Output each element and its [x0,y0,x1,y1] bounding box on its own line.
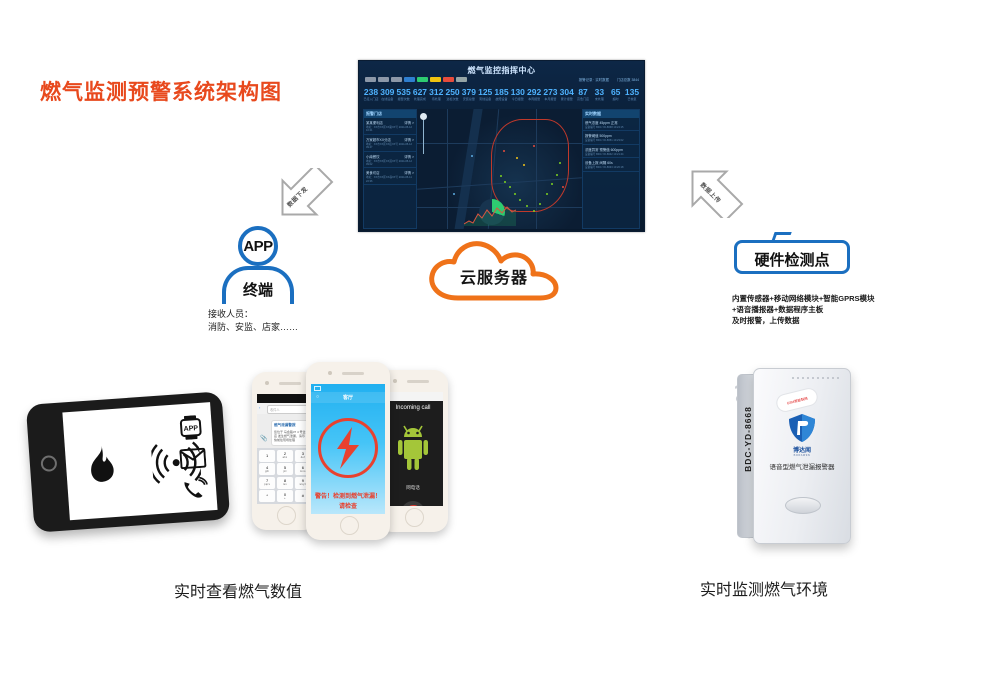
dashboard-meta-2: 门店总数 3844 [617,77,639,82]
monitoring-dashboard: 燃气监控指挥中心 报警记录 · 实时数据 门店总数 3844 238已接入门店 … [358,60,645,232]
key-number: 1 [266,454,268,458]
panel-title: 实时数据 [583,110,639,118]
row-name: 美食坊店 [366,170,380,175]
kpi-item: 292本周报警 [526,87,542,101]
kpi-value: 379 [462,87,476,97]
table-row[interactable]: 小南餐饮详情 > 地址：XX市XX区XX道XX号 2024-05-12 09:0… [364,152,416,169]
kpi-item: 238已接入门店 [363,87,379,101]
kpi-label: 处理完成 [414,97,426,101]
kpi-item: 627处理完成 [412,87,428,101]
key-letters: def [301,456,305,459]
back-icon[interactable]: ‹ [259,405,260,410]
svg-text:APP: APP [183,425,198,433]
kpi-label: 报警次数 [398,97,410,101]
kpi-item: 379安装总量 [461,87,477,101]
sms-recipient-placeholder: 收件人 [270,407,280,412]
keypad-key[interactable]: 7pqrs [259,477,275,489]
row-action[interactable]: 详情 > [404,170,414,175]
kpi-item: 535报警次数 [396,87,412,101]
table-row[interactable]: 设备上报 间隔 60s 设备编号 BDC-YD-8633 10:20:18 [583,158,639,171]
kpi-value: 238 [364,87,378,97]
phone-app-icon-list: APP [177,415,209,501]
home-button-icon[interactable] [405,508,424,527]
detector-brand-pinyin: BODAWEN [754,454,850,457]
realtime-data-panel: 实时数据 燃气浓度 45ppm 正常 设备编号 BDC-YD-8668 10:2… [582,109,640,229]
front-camera-icon [328,371,332,375]
kpi-label: 未处理 [595,97,604,101]
row-sub: 设备编号 BDC-YD-8642 10:21:44 [585,153,637,156]
sms-message-title: 燃气泄漏警报 [274,423,306,428]
map-canvas[interactable] [417,109,582,229]
kpi-label: 本周报警 [528,97,540,101]
kpi-value: 130 [511,87,525,97]
sms-message-bubble: 燃气泄漏警报 您位于 马会路37 4 号监店 发生燃气泄漏，请尽快前往现场处理 [271,420,309,446]
detector-brand: 博达闻 BODAWEN [754,445,850,457]
caption-right: 实时监测燃气环境 [700,576,828,600]
gas-detector-device: GSM智能联网 博达闻 BODAWEN 语音型燃气泄漏报警器 BDC-YD-86… [735,368,867,548]
keypad-key[interactable]: 8tuv [277,477,293,489]
kpi-value: 309 [380,87,394,97]
android-robot-icon [396,423,430,471]
keypad-key[interactable]: 1 [259,450,275,462]
data-push-arrow: 数据下发 [272,168,334,220]
map-zoom-knob[interactable] [420,113,427,120]
sms-thread: 燃气泄漏警报 您位于 马会路37 4 号监店 发生燃气泄漏，请尽快前往现场处理 … [257,414,313,448]
kpi-item: 130今日报警 [510,87,526,101]
smartwatch-app-icon[interactable]: APP [179,415,203,440]
table-row[interactable]: 燃气浓度 45ppm 正常 设备编号 BDC-YD-8668 10:24:15 [583,118,639,131]
home-button-icon[interactable] [277,506,296,525]
cloud-server-label: 云服务器 [424,264,564,288]
kpi-value: 273 [543,87,557,97]
key-letters: mno [300,470,306,473]
page-title: 燃气监测预警系统架构图 [40,76,282,106]
row-name: 小南餐饮 [366,154,380,159]
map-zoom-track[interactable] [423,120,424,154]
kpi-item: 33未处理 [591,87,607,101]
kpi-value: 292 [527,87,541,97]
keypad-key[interactable]: 2abc [277,450,293,462]
table-row[interactable]: 报警阈值 500ppm 设备编号 BDC-YD-8651 10:23:02 [583,131,639,144]
kpi-label: 故障设备 [495,97,507,101]
home-button-icon[interactable] [40,455,57,472]
keypad-key[interactable]: 4ghi [259,463,275,475]
hardware-description: 内置传感器+移动网络模块+智能GPRS模块 +语音播报器+数据程序主板 及时报警… [732,293,922,326]
kpi-value: 312 [429,87,443,97]
caption-left: 实时查看燃气数值 [174,578,302,602]
row-action[interactable]: 详情 > [404,137,414,142]
kpi-label: 累计报警 [561,97,573,101]
kpi-item: 65超时 [608,87,624,101]
hardware-bubble-label: 硬件检测点 [737,249,847,270]
receivers-text: 接收人员： 消防、安监、店家…… [208,308,298,334]
row-action[interactable]: 详情 > [404,154,414,159]
front-camera-icon [265,381,269,385]
kpi-item: 87高危门店 [575,87,591,101]
kpi-value: 135 [625,87,639,97]
dashboard-kpi-row: 238已接入门店 309在线设备 535报警次数 627处理完成 312待处理 … [363,87,640,109]
detector-test-button[interactable] [785,497,821,514]
kpi-label: 巡检次数 [447,97,459,101]
front-camera-icon [393,379,397,383]
keypad-key[interactable]: 0+ [277,490,293,502]
kpi-value: 185 [494,87,508,97]
alert-message: 警告！检测到燃气泄漏！ 请检查 [311,492,385,512]
kpi-label: 在线设备 [381,97,393,101]
app-terminal-icon: APP 终端 [222,226,294,306]
row-name: 某某便利店 [366,120,383,125]
call-phone-screen: Incoming call 网电话 ✆ [383,392,443,506]
call-hangup-button[interactable]: ✆ [401,501,425,506]
panel-title: 报警门店 [364,110,416,118]
kpi-label: 超时 [613,97,619,101]
alert-phone[interactable]: ○ 客厅 警告！检测到燃气泄漏！ 请检查 [306,362,390,540]
lightning-bolt-icon [321,421,375,475]
kpi-value: 535 [397,87,411,97]
row-name: 报警阈值 500ppm [585,133,612,138]
alarm-store-panel: 报警门店 某某便利店详情 > 地址：XX市XX区XX路XX号 2024-05-1… [363,109,417,229]
row-sub: 地址：XX市XX区XX道XX号 2024-05-12 09:02 [366,160,414,167]
row-sub: 地址：XX市XX区XX街XX号 2024-05-12 09:47 [366,143,414,150]
brand-logo-icon [787,413,817,443]
kpi-label: 已接入门店 [363,97,378,101]
row-name: 燃气浓度 45ppm 正常 [585,120,618,125]
home-button-icon[interactable] [340,516,359,535]
phone-hangup-icon: ✆ [401,501,425,506]
kpi-label: 今日报警 [512,97,524,101]
status-bar [383,392,443,401]
app-navbar: ○ 客厅 [311,392,385,403]
key-letters: ghi [265,470,269,473]
detector-front-panel: GSM智能联网 博达闻 BODAWEN 语音型燃气泄漏报警器 [753,368,851,544]
detector-sticker: GSM智能联网 [774,386,819,414]
table-row[interactable]: 浓度异常 预警值 600ppm 设备编号 BDC-YD-8642 10:21:4… [583,145,639,158]
table-row[interactable]: 某某便利店详情 > 地址：XX市XX区XX路XX号 2024-05-12 10:… [364,118,416,135]
dial-keypad[interactable]: 1 2abc 3def 4ghi 5jkl 6mno 7pqrs 8tuv 9w… [257,448,313,504]
call-subtitle: 网电话 [383,485,443,491]
kpi-value: 33 [595,87,604,97]
kpi-item: 273本月报警 [542,87,558,101]
dashboard-meta-1: 报警记录 · 实时数据 [579,77,609,82]
kpi-item: 125离线设备 [477,87,493,101]
table-row[interactable]: 美食坊店详情 > 地址：XX市XX区XX巷XX号 2024-05-11 22:3… [364,168,416,185]
kpi-value: 125 [478,87,492,97]
ringing-phone-icon[interactable] [181,477,208,501]
kpi-value: 304 [560,87,574,97]
key-letters: pqrs [264,483,270,486]
key-letters: jkl [283,470,286,473]
kpi-item: 250巡检次数 [445,87,461,101]
alert-phone-screen: ○ 客厅 警告！检测到燃气泄漏！ 请检查 [311,384,385,514]
kpi-value: 250 [445,87,459,97]
sms-phone-screen: ‹ 收件人 燃气泄漏警报 您位于 马会路37 4 号监店 发生燃气泄漏，请尽快前… [257,394,313,504]
status-bar [311,384,385,392]
flame-icon [83,445,120,491]
keypad-key[interactable]: 5jkl [277,463,293,475]
sms-message-body: 您位于 马会路37 4 号监店 发生燃气泄漏，请尽快前往现场处理 [274,430,306,443]
cloud-server-icon: 云服务器 [424,238,564,304]
dashboard-header-meta: 报警记录 · 实时数据 门店总数 3844 [579,77,639,82]
kpi-label: 离线设备 [479,97,491,101]
row-sub: 地址：XX市XX区XX巷XX号 2024-05-11 22:36 [366,176,414,183]
hardware-bubble: 硬件检测点 [734,240,850,274]
kpi-value: 87 [578,87,587,97]
kpi-label: 已恢复 [627,97,636,101]
row-sub: 设备编号 BDC-YD-8651 10:23:02 [585,139,637,142]
earpiece-speaker [407,380,429,383]
row-sub: 地址：XX市XX区XX路XX号 2024-05-12 10:21 [366,126,414,133]
detector-model-number: BDC-YD-8668 [743,374,753,504]
earpiece-speaker [342,372,364,375]
keypad-key[interactable]: * [259,490,275,502]
kpi-value: 627 [413,87,427,97]
key-letters: + [284,497,286,500]
detector-product-name: 语音型燃气泄漏报警器 [754,461,850,471]
key-letters: tuv [283,483,287,486]
envelope-icon[interactable] [179,448,206,470]
kpi-item: 312待处理 [428,87,444,101]
map-sparkline-chart [464,204,516,226]
dashboard-title: 燃气监控指挥中心 [359,65,644,76]
landscape-phone-screen: APP [62,402,217,520]
data-upload-arrow: 数据上传 [682,166,744,218]
kpi-label: 本月报警 [544,97,556,101]
alert-circle [318,418,378,478]
row-name: 设备上报 间隔 60s [585,160,613,165]
key-number: # [302,494,304,498]
key-letters: abc [283,456,288,459]
map-zoom-slider[interactable] [421,113,426,157]
kpi-item: 185故障设备 [494,87,510,101]
kpi-label: 安装总量 [463,97,475,101]
kpi-label: 高危门店 [577,97,589,101]
terminal-body: 终端 [222,266,294,304]
row-name: 万家超市XX分店 [366,137,391,142]
detector-vent-holes [792,377,839,379]
row-sub: 设备编号 BDC-YD-8633 10:20:18 [585,166,637,169]
kpi-value: 65 [611,87,620,97]
row-action[interactable]: 详情 > [404,120,414,125]
dashboard-legend [365,77,467,82]
app-badge-label: APP [242,238,274,255]
sms-recipient-input[interactable]: 收件人 [267,405,311,414]
alert-nav-title: 客厅 [311,394,385,401]
row-name: 浓度异常 预警值 600ppm [585,147,623,152]
attachment-icon[interactable]: 📎 [260,435,267,442]
kpi-label: 待处理 [432,97,441,101]
key-number: * [266,494,268,498]
kpi-item: 304累计报警 [559,87,575,101]
status-bar [257,394,313,403]
landscape-phone[interactable]: APP [26,391,230,532]
kpi-item: 309在线设备 [379,87,395,101]
row-sub: 设备编号 BDC-YD-8668 10:24:15 [585,126,637,129]
incoming-call-text: Incoming call [383,405,443,411]
table-row[interactable]: 万家超市XX分店详情 > 地址：XX市XX区XX街XX号 2024-05-12 … [364,135,416,152]
kpi-item: 135已恢复 [624,87,640,101]
app-badge-circle: APP [238,226,278,266]
terminal-label: 终端 [226,279,290,300]
earpiece-speaker [279,382,301,385]
